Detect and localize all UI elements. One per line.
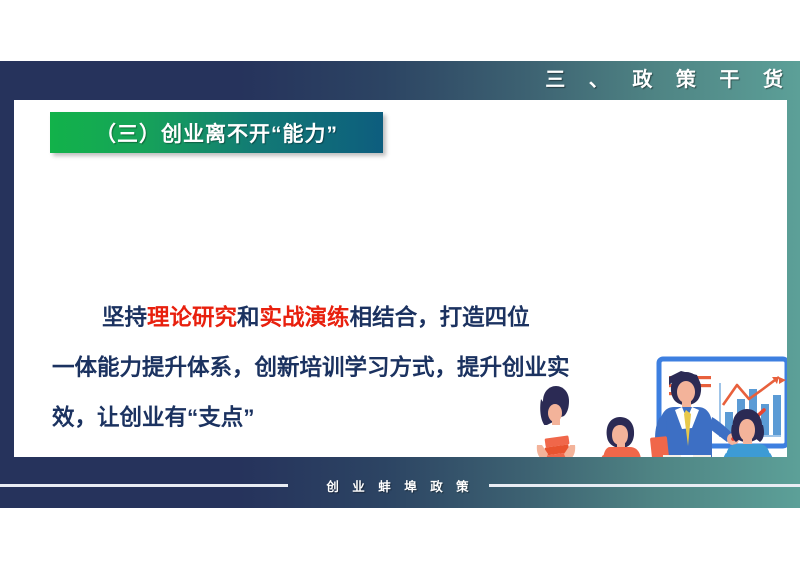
body-highlight-practice: 实战演练 — [260, 305, 350, 330]
body-line-1: 坚持理论研究和实战演练相结合，打造四位 — [102, 305, 530, 330]
body-line-1-part-a: 坚持 — [102, 305, 147, 330]
footer-label: 创 业 蚌 埠 政 策 — [0, 476, 800, 495]
body-highlight-theory: 理论研究 — [147, 305, 237, 330]
presentation-slide: 三 、 政 策 干 货 — [0, 0, 800, 566]
slide-body-text: 坚持理论研究和实战演练相结合，打造四位一体能力提升体系，创新培训学习方式，提升创… — [52, 293, 632, 443]
body-line-1-part-c: 相结合，打造四位 — [350, 305, 530, 330]
section-title-badge: （三）创业离不开“能力” — [50, 112, 383, 153]
body-line-2: 一体能力提升体系，创新培训学习方式，提升创业实 — [52, 355, 570, 380]
body-line-1-part-b: 和 — [237, 305, 260, 330]
body-line-3: 效，让创业有“支点” — [52, 405, 255, 430]
slide-header-title: 三 、 政 策 干 货 — [545, 63, 792, 92]
section-title-label: （三）创业离不开“能力” — [95, 118, 338, 148]
slide-content-panel: 坚持理论研究和实战演练相结合，打造四位一体能力提升体系，创新培训学习方式，提升创… — [14, 100, 787, 457]
